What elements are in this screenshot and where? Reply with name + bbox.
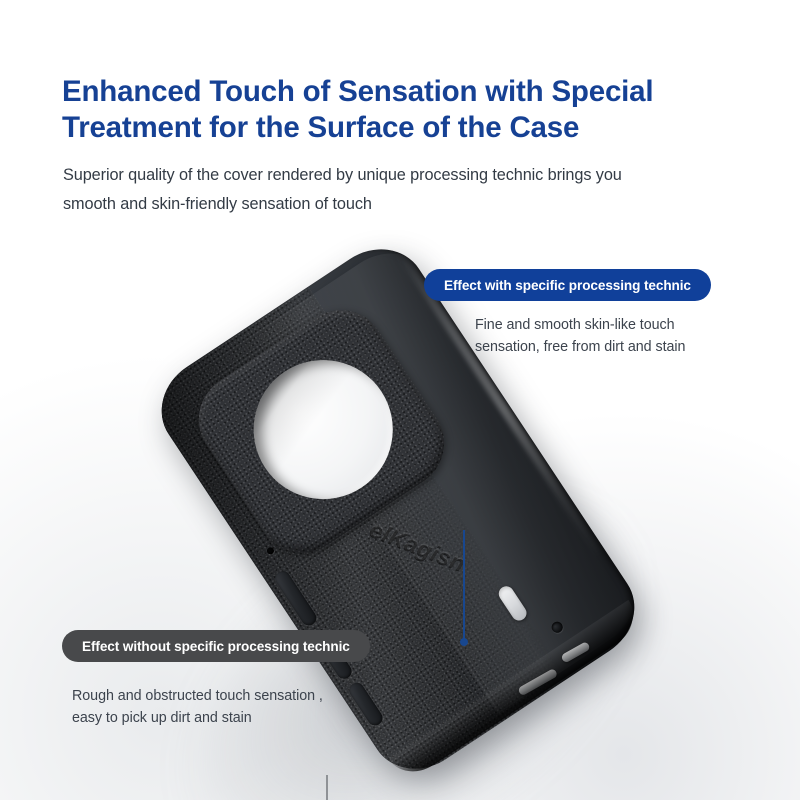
callout-pill-with-technic[interactable]: Effect with specific processing technic [424,269,711,301]
page-subtitle-line-1: Superior quality of the cover rendered b… [63,161,713,190]
callout-leader-line-without-technic [326,775,328,800]
page-subtitle: Superior quality of the cover rendered b… [63,161,713,219]
camera-cutout-hole [227,333,420,526]
page-subtitle-line-2: smooth and skin-friendly sensation of to… [63,190,713,219]
callout-leader-line-with-technic [463,530,465,642]
page-title-line-2: Treatment for the Surface of the Case [62,110,722,146]
callout-pill-without-technic[interactable]: Effect without specific processing techn… [62,630,370,662]
callout-body-without-technic: Rough and obstructed touch sensation , e… [72,685,362,729]
callout-anchor-dot-with-technic [460,638,468,646]
page-title: Enhanced Touch of Sensation with Special… [62,74,722,146]
callout-body-with-technic: Fine and smooth skin-like touch sensatio… [475,314,725,358]
product-feature-page: Enhanced Touch of Sensation with Special… [0,0,800,800]
page-title-line-1: Enhanced Touch of Sensation with Special [62,74,722,110]
